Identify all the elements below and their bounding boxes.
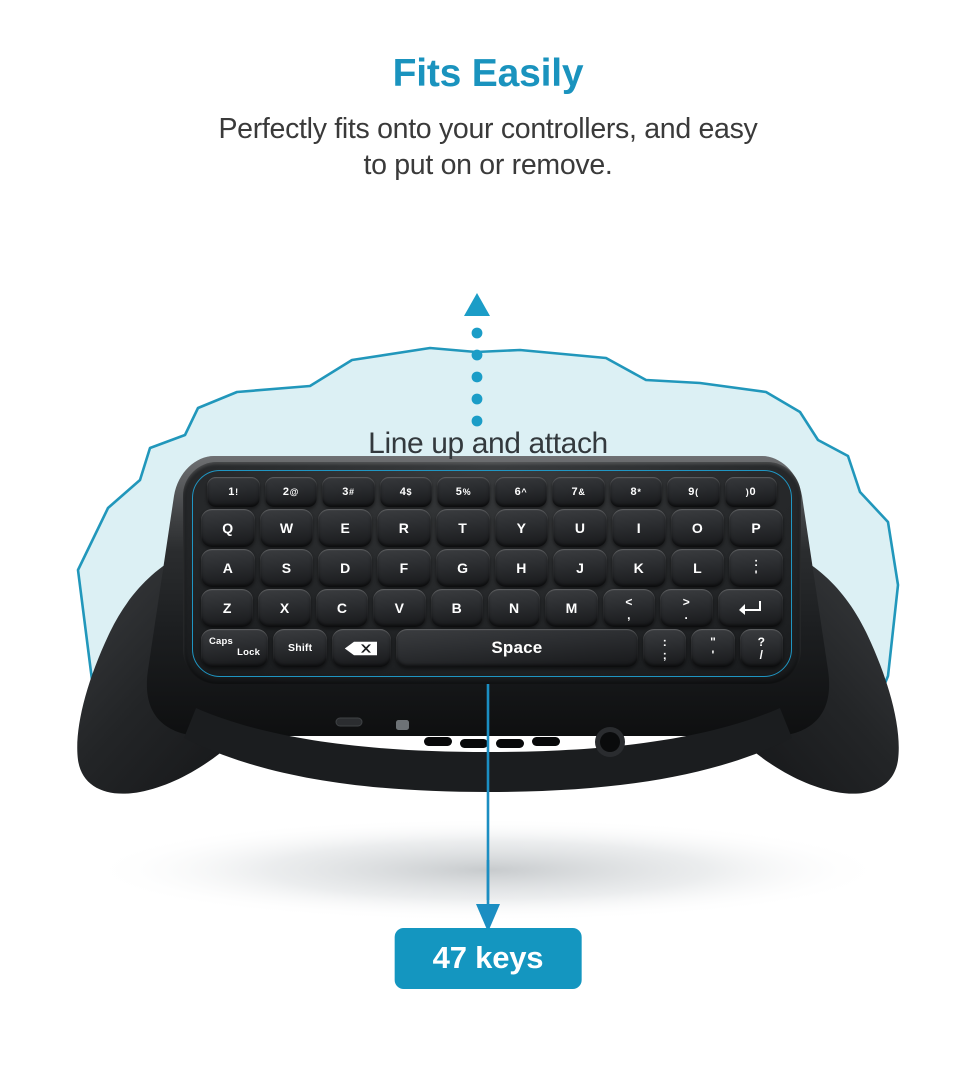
key-8[interactable]: 8* xyxy=(610,477,663,507)
key-enter[interactable] xyxy=(718,589,783,627)
key-a[interactable]: A xyxy=(201,549,255,587)
key-semicolon-bottom: ; xyxy=(663,649,667,661)
key-5-digit: 5 xyxy=(456,487,462,498)
key-caps-lock-line1: Caps xyxy=(201,637,233,648)
qwerty-row: Q W E R T Y U I O P xyxy=(201,509,783,547)
usb-port-icon xyxy=(336,718,362,726)
key-3[interactable]: 3# xyxy=(322,477,375,507)
key-e[interactable]: E xyxy=(318,509,372,547)
key-i[interactable]: I xyxy=(612,509,666,547)
key-l[interactable]: L xyxy=(671,549,725,587)
key-h[interactable]: H xyxy=(495,549,549,587)
key-8-shift: * xyxy=(637,488,641,497)
key-semicolon-top: : xyxy=(663,636,667,648)
key-w[interactable]: W xyxy=(260,509,314,547)
key-quote[interactable]: " ' xyxy=(691,629,734,667)
key-n[interactable]: N xyxy=(488,589,540,627)
page-title: Fits Easily xyxy=(0,52,976,97)
key-1[interactable]: 1! xyxy=(207,477,260,507)
key-t[interactable]: T xyxy=(436,509,490,547)
key-u[interactable]: U xyxy=(553,509,607,547)
key-period[interactable]: > . xyxy=(660,589,712,627)
key-3-digit: 3 xyxy=(342,487,348,498)
key-9-digit: 9 xyxy=(688,487,694,498)
key-1-shift: ! xyxy=(235,488,238,497)
key-k[interactable]: K xyxy=(612,549,666,587)
key-d[interactable]: D xyxy=(318,549,372,587)
key-z[interactable]: Z xyxy=(201,589,253,627)
key-5-shift: % xyxy=(463,488,471,497)
key-4-digit: 4 xyxy=(400,487,406,498)
home-row: A S D F G H J K L : ' xyxy=(201,549,783,587)
key-9-shift: ( xyxy=(695,488,698,497)
number-row: 1! 2@ 3# 4$ 5% 6^ 7& 8* 9( )0 xyxy=(201,477,783,507)
headphone-jack-icon xyxy=(595,727,625,757)
subtitle-line-2: to put on or remove. xyxy=(0,147,976,183)
key-space[interactable]: Space xyxy=(396,629,638,667)
key-6[interactable]: 6^ xyxy=(495,477,548,507)
key-slash-bottom: / xyxy=(760,649,764,661)
keyboard-rows: 1! 2@ 3# 4$ 5% 6^ 7& 8* 9( )0 Q W E R xyxy=(201,477,783,672)
key-slash-top: ? xyxy=(758,636,766,648)
key-6-digit: 6 xyxy=(515,487,521,498)
key-9[interactable]: 9( xyxy=(667,477,720,507)
page-subtitle: Perfectly fits onto your controllers, an… xyxy=(0,111,976,184)
key-7-shift: & xyxy=(578,488,585,497)
key-f[interactable]: F xyxy=(377,549,431,587)
enter-arrow-icon xyxy=(738,600,762,616)
key-colon-apostrophe-bottom: ' xyxy=(755,569,758,581)
key-7-digit: 7 xyxy=(571,487,577,498)
subtitle-line-1: Perfectly fits onto your controllers, an… xyxy=(0,111,976,147)
key-4[interactable]: 4$ xyxy=(380,477,433,507)
key-q[interactable]: Q xyxy=(201,509,255,547)
product-feature-image: Fits Easily Perfectly fits onto your con… xyxy=(0,0,976,1080)
key-s[interactable]: S xyxy=(260,549,314,587)
key-semicolon[interactable]: : ; xyxy=(643,629,686,667)
key-shift[interactable]: Shift xyxy=(273,629,327,667)
key-v[interactable]: V xyxy=(373,589,425,627)
header: Fits Easily Perfectly fits onto your con… xyxy=(0,52,976,184)
key-period-bottom: . xyxy=(685,609,689,621)
key-8-digit: 8 xyxy=(630,487,636,498)
key-y[interactable]: Y xyxy=(495,509,549,547)
key-quote-bottom: ' xyxy=(712,649,715,661)
key-count-badge: 47 keys xyxy=(395,928,582,989)
indicator-button-icon xyxy=(396,720,409,730)
key-j[interactable]: J xyxy=(553,549,607,587)
key-comma[interactable]: < , xyxy=(603,589,655,627)
key-4-shift: $ xyxy=(407,488,412,497)
key-period-top: > xyxy=(683,596,690,608)
speaker-grille-icon xyxy=(424,737,560,748)
key-0[interactable]: )0 xyxy=(725,477,778,507)
key-6-shift: ^ xyxy=(521,488,526,497)
key-b[interactable]: B xyxy=(431,589,483,627)
keyboard[interactable]: 1! 2@ 3# 4$ 5% 6^ 7& 8* 9( )0 Q W E R xyxy=(183,462,801,684)
key-backspace[interactable] xyxy=(332,629,390,667)
zxcv-row: Z X C V B N M < , > . xyxy=(201,589,783,627)
key-3-shift: # xyxy=(349,488,354,497)
key-5[interactable]: 5% xyxy=(437,477,490,507)
key-c[interactable]: C xyxy=(316,589,368,627)
key-comma-bottom: , xyxy=(627,609,631,621)
key-caps-lock[interactable]: Caps Lock xyxy=(201,629,268,667)
key-r[interactable]: R xyxy=(377,509,431,547)
key-2-digit: 2 xyxy=(283,487,289,498)
key-2-shift: @ xyxy=(290,488,299,497)
key-comma-top: < xyxy=(625,596,632,608)
key-p[interactable]: P xyxy=(729,509,783,547)
key-1-digit: 1 xyxy=(228,487,234,498)
key-colon-apostrophe-top: : xyxy=(754,556,758,568)
backspace-icon xyxy=(344,641,378,656)
key-7[interactable]: 7& xyxy=(552,477,605,507)
key-quote-top: " xyxy=(710,636,716,648)
key-caps-lock-line2: Lock xyxy=(237,648,268,659)
key-g[interactable]: G xyxy=(436,549,490,587)
bottom-row: Caps Lock Shift Space : ; xyxy=(201,629,783,667)
key-m[interactable]: M xyxy=(545,589,597,627)
key-2[interactable]: 2@ xyxy=(265,477,318,507)
key-0-digit: 0 xyxy=(749,487,755,498)
key-colon-apostrophe[interactable]: : ' xyxy=(729,549,783,587)
key-o[interactable]: O xyxy=(671,509,725,547)
attach-instruction-label: Line up and attach xyxy=(0,427,976,461)
key-x[interactable]: X xyxy=(258,589,310,627)
key-slash[interactable]: ? / xyxy=(740,629,783,667)
